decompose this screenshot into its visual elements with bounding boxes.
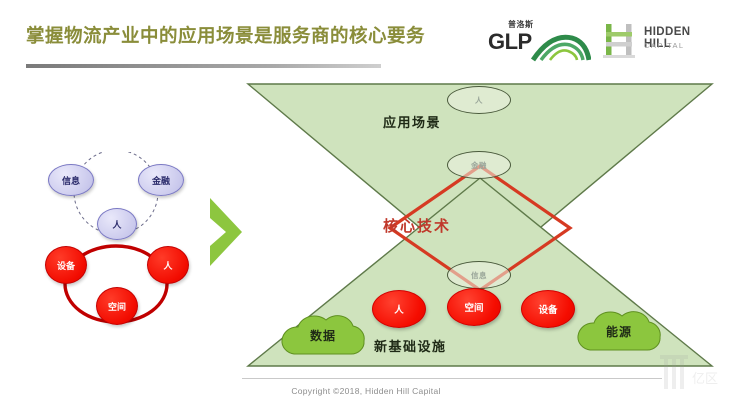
red-oval-label: 设备 [538, 302, 557, 316]
hourglass-shapes [240, 78, 720, 373]
logo-zone: 普洛斯 GLP HIDDEN HILL CAPITAL [488, 16, 714, 62]
site-watermark-icon: 亿区 [658, 353, 724, 405]
node-label: 金融 [152, 174, 170, 187]
label-core-technology: 核心技术 [383, 215, 451, 236]
ghost-oval-xinxi: 信息 [447, 261, 511, 289]
red-oval-kongjian: 空间 [447, 288, 501, 326]
hidden-hill-logo: HIDDEN HILL CAPITAL [600, 18, 714, 60]
red-oval-shebei: 设备 [521, 290, 575, 328]
ghost-oval-label: 人 [475, 95, 483, 106]
footer-copyright: Copyright ©2018, Hidden Hill Capital [0, 386, 732, 396]
red-oval-label: 空间 [464, 300, 483, 314]
ghost-oval-label: 信息 [471, 270, 487, 281]
label-application-scene: 应用场景 [383, 112, 441, 131]
hidden-hill-subtitle: CAPITAL [644, 41, 685, 50]
glp-logo: 普洛斯 GLP [488, 20, 592, 60]
glp-arc-icon [531, 32, 591, 62]
node-shebei: 设备 [45, 246, 87, 284]
red-oval-ren: 人 [372, 290, 426, 328]
node-label: 人 [112, 218, 121, 231]
slide-root: 掌握物流产业中的应用场景是服务商的核心要务 普洛斯 GLP HIDDEN HIL… [0, 0, 732, 409]
node-ren-top: 人 [97, 208, 137, 240]
node-ren-right: 人 [147, 246, 189, 284]
watermark-text: 亿区 [692, 372, 718, 387]
red-oval-label: 人 [394, 302, 404, 316]
label-new-infrastructure: 新基础设施 [374, 336, 447, 355]
ghost-oval-ren: 人 [447, 86, 511, 114]
node-kongjian: 空间 [96, 287, 138, 325]
node-label: 信息 [62, 174, 80, 187]
node-label: 人 [163, 259, 172, 272]
node-label: 设备 [57, 259, 75, 272]
node-label: 空间 [108, 300, 126, 313]
ghost-oval-jinrong: 金融 [447, 151, 511, 179]
hidden-hill-h-icon [600, 22, 640, 60]
source-concept-diagram: 信息 金融 人 设备 人 空间 [34, 152, 214, 337]
title-underline-rule [26, 64, 381, 68]
node-jinrong: 金融 [138, 164, 184, 196]
glp-wordmark: GLP [488, 29, 532, 55]
node-xinxi: 信息 [48, 164, 94, 196]
ghost-oval-label: 金融 [471, 160, 487, 171]
footer-divider [242, 378, 662, 379]
page-title: 掌握物流产业中的应用场景是服务商的核心要务 [26, 22, 425, 48]
hourglass-figure: 应用场景 核心技术 新基础设施 人 金融 信息 人 空间 设备 数据 能源 [240, 78, 720, 373]
